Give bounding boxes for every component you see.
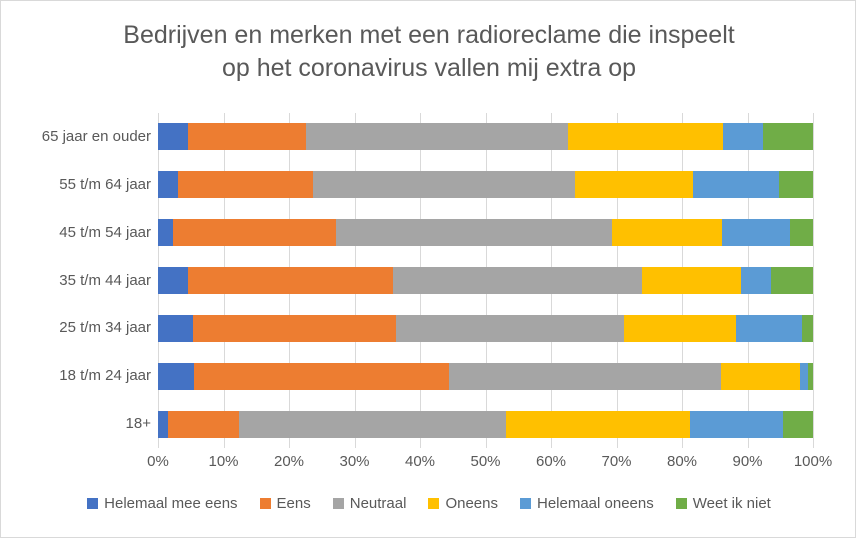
y-axis-tick-label: 18+ xyxy=(6,415,151,433)
bar-segment[interactable] xyxy=(771,267,813,294)
legend-swatch-icon xyxy=(520,498,531,509)
y-axis-tick-label: 35 t/m 44 jaar xyxy=(6,272,151,290)
bar-segment[interactable] xyxy=(642,267,741,294)
legend-swatch-icon xyxy=(260,498,271,509)
plot-area xyxy=(158,113,813,448)
x-axis-tick-label: 40% xyxy=(405,453,435,470)
x-axis-tick-label: 80% xyxy=(667,453,697,470)
x-axis-tick-label: 90% xyxy=(732,453,762,470)
bar-segment[interactable] xyxy=(396,315,624,342)
bar-segment[interactable] xyxy=(624,315,736,342)
chart-title: Bedrijven en merken met een radioreclame… xyxy=(61,19,797,85)
bar-segment[interactable] xyxy=(158,171,178,198)
bar-segment[interactable] xyxy=(722,219,790,246)
bar-segment[interactable] xyxy=(158,411,168,438)
legend-item[interactable]: Weet ik niet xyxy=(676,495,771,512)
bar-segment[interactable] xyxy=(193,315,396,342)
legend-label: Eens xyxy=(277,495,311,512)
bar-segment[interactable] xyxy=(239,411,506,438)
y-axis-tick-label: 65 jaar en ouder xyxy=(6,128,151,146)
legend-item[interactable]: Helemaal oneens xyxy=(520,495,654,512)
legend-swatch-icon xyxy=(333,498,344,509)
bar-segment[interactable] xyxy=(763,123,813,150)
bar-segment[interactable] xyxy=(188,123,306,150)
chart-legend: Helemaal mee eensEensNeutraalOneensHelem… xyxy=(1,495,857,512)
legend-label: Helemaal mee eens xyxy=(104,495,237,512)
x-axis-tick-label: 70% xyxy=(601,453,631,470)
y-axis-tick-label: 25 t/m 34 jaar xyxy=(6,319,151,337)
bar-row[interactable] xyxy=(158,219,813,246)
bar-segment[interactable] xyxy=(158,219,173,246)
x-axis-labels: 0%10%20%30%40%50%60%70%80%90%100% xyxy=(158,453,813,477)
bar-segment[interactable] xyxy=(158,315,193,342)
bar-row[interactable] xyxy=(158,411,813,438)
legend-item[interactable]: Neutraal xyxy=(333,495,407,512)
bar-segment[interactable] xyxy=(800,363,809,390)
bar-segment[interactable] xyxy=(741,267,771,294)
bar-row[interactable] xyxy=(158,315,813,342)
bar-segment[interactable] xyxy=(568,123,723,150)
y-axis-tick-label: 18 t/m 24 jaar xyxy=(6,367,151,385)
bar-segment[interactable] xyxy=(693,171,779,198)
bar-segment[interactable] xyxy=(721,363,800,390)
bar-segment[interactable] xyxy=(575,171,693,198)
bar-segment[interactable] xyxy=(783,411,812,438)
bar-segment[interactable] xyxy=(449,363,721,390)
y-axis-labels: 65 jaar en ouder55 t/m 64 jaar45 t/m 54 … xyxy=(1,113,151,448)
bar-segment[interactable] xyxy=(313,171,575,198)
legend-item[interactable]: Oneens xyxy=(428,495,498,512)
legend-swatch-icon xyxy=(676,498,687,509)
bar-segment[interactable] xyxy=(158,267,188,294)
bar-segment[interactable] xyxy=(168,411,239,438)
bar-segment[interactable] xyxy=(790,219,813,246)
bar-segment[interactable] xyxy=(736,315,802,342)
legend-swatch-icon xyxy=(87,498,98,509)
bar-segment[interactable] xyxy=(158,123,188,150)
bar-segment[interactable] xyxy=(690,411,783,438)
legend-item[interactable]: Helemaal mee eens xyxy=(87,495,237,512)
legend-label: Neutraal xyxy=(350,495,407,512)
bar-segment[interactable] xyxy=(612,219,722,246)
x-axis-tick-label: 100% xyxy=(794,453,832,470)
bar-segment[interactable] xyxy=(336,219,612,246)
bar-segment[interactable] xyxy=(808,363,813,390)
bar-segment[interactable] xyxy=(393,267,642,294)
bar-segment[interactable] xyxy=(506,411,691,438)
bar-segment[interactable] xyxy=(802,315,813,342)
bar-segment[interactable] xyxy=(779,171,813,198)
gridline-100 xyxy=(813,113,814,448)
legend-label: Oneens xyxy=(445,495,498,512)
bar-row[interactable] xyxy=(158,267,813,294)
bar-row[interactable] xyxy=(158,123,813,150)
x-axis-tick-label: 0% xyxy=(147,453,169,470)
y-axis-tick-label: 55 t/m 64 jaar xyxy=(6,176,151,194)
x-axis-tick-label: 20% xyxy=(274,453,304,470)
bar-segment[interactable] xyxy=(178,171,313,198)
legend-label: Weet ik niet xyxy=(693,495,771,512)
legend-label: Helemaal oneens xyxy=(537,495,654,512)
bar-segment[interactable] xyxy=(306,123,568,150)
bar-row[interactable] xyxy=(158,171,813,198)
chart-container: Bedrijven en merken met een radioreclame… xyxy=(0,0,856,538)
legend-item[interactable]: Eens xyxy=(260,495,311,512)
y-axis-tick-label: 45 t/m 54 jaar xyxy=(6,224,151,242)
bar-segment[interactable] xyxy=(723,123,763,150)
bar-segment[interactable] xyxy=(173,219,336,246)
x-axis-tick-label: 60% xyxy=(536,453,566,470)
bar-segment[interactable] xyxy=(188,267,393,294)
bar-segment[interactable] xyxy=(158,363,194,390)
x-axis-tick-label: 10% xyxy=(208,453,238,470)
bar-segment[interactable] xyxy=(194,363,449,390)
legend-swatch-icon xyxy=(428,498,439,509)
bar-row[interactable] xyxy=(158,363,813,390)
x-axis-tick-label: 50% xyxy=(470,453,500,470)
x-axis-tick-label: 30% xyxy=(339,453,369,470)
